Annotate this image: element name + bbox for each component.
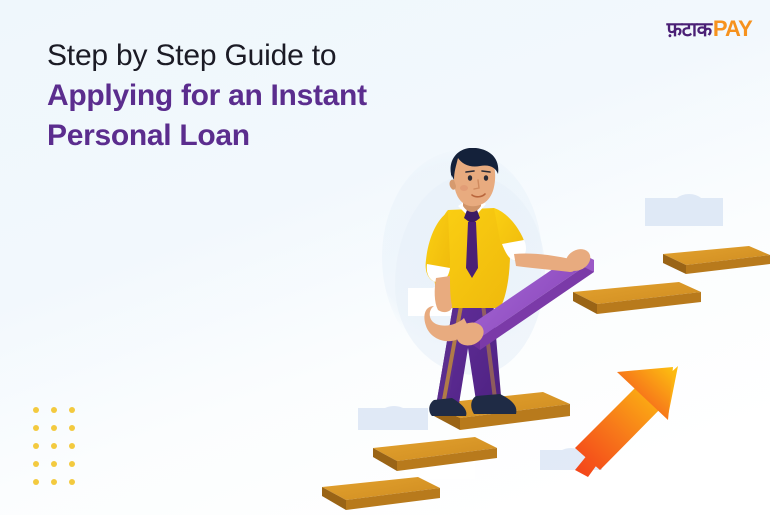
staircase-steps [0, 0, 770, 515]
character-illustration [418, 148, 618, 448]
step-plank [322, 477, 440, 510]
character-right-arm [514, 253, 576, 272]
character-head [450, 148, 499, 206]
banner-canvas: फ़टाक PAY Step by Step Guide to Applying… [0, 0, 770, 515]
character-left-arm [435, 276, 452, 312]
step-plank [663, 246, 770, 274]
